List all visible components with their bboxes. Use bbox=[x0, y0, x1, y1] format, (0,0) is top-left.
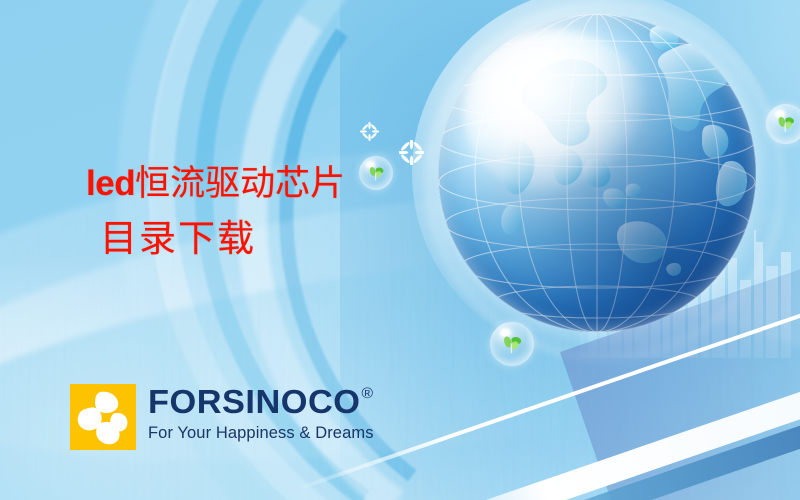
headline-cjk: 恒流驱动芯片 bbox=[135, 164, 345, 203]
globe-rim-light bbox=[438, 14, 756, 332]
logo-brand-row: FORSINOCO ® bbox=[148, 385, 383, 418]
registered-trademark-icon: ® bbox=[362, 386, 374, 401]
headline-text: led恒流驱动芯片 目录下载 bbox=[86, 166, 345, 258]
bubble-pinwheel-1 bbox=[359, 156, 393, 190]
promo-banner: led恒流驱动芯片 目录下载 FORSINOCO ® For Your Happ… bbox=[0, 0, 800, 500]
headline-line-1: led恒流驱动芯片 bbox=[86, 166, 345, 201]
company-logo: FORSINOCO ® For Your Happiness & Dreams bbox=[70, 384, 374, 450]
sparkle-flower-1-icon bbox=[360, 122, 379, 141]
sparkle-flower-2-icon bbox=[399, 140, 424, 165]
bubble-pinwheel-3 bbox=[766, 104, 800, 144]
bubble-pinwheel-2 bbox=[490, 322, 534, 366]
logo-text-block: FORSINOCO ® For Your Happiness & Dreams bbox=[148, 385, 374, 442]
green-pinwheel-icon bbox=[365, 162, 387, 184]
green-pinwheel-icon bbox=[773, 111, 799, 137]
logo-tagline: For Your Happiness & Dreams bbox=[148, 425, 374, 442]
four-petal-pinwheel-icon bbox=[70, 384, 136, 450]
headline-line-2: 目录下载 bbox=[100, 221, 345, 258]
green-pinwheel-icon bbox=[498, 330, 526, 358]
headline-latin: led bbox=[86, 164, 135, 203]
logo-brand-name: FORSINOCO bbox=[148, 385, 361, 418]
earth-globe-graphic bbox=[438, 14, 756, 332]
